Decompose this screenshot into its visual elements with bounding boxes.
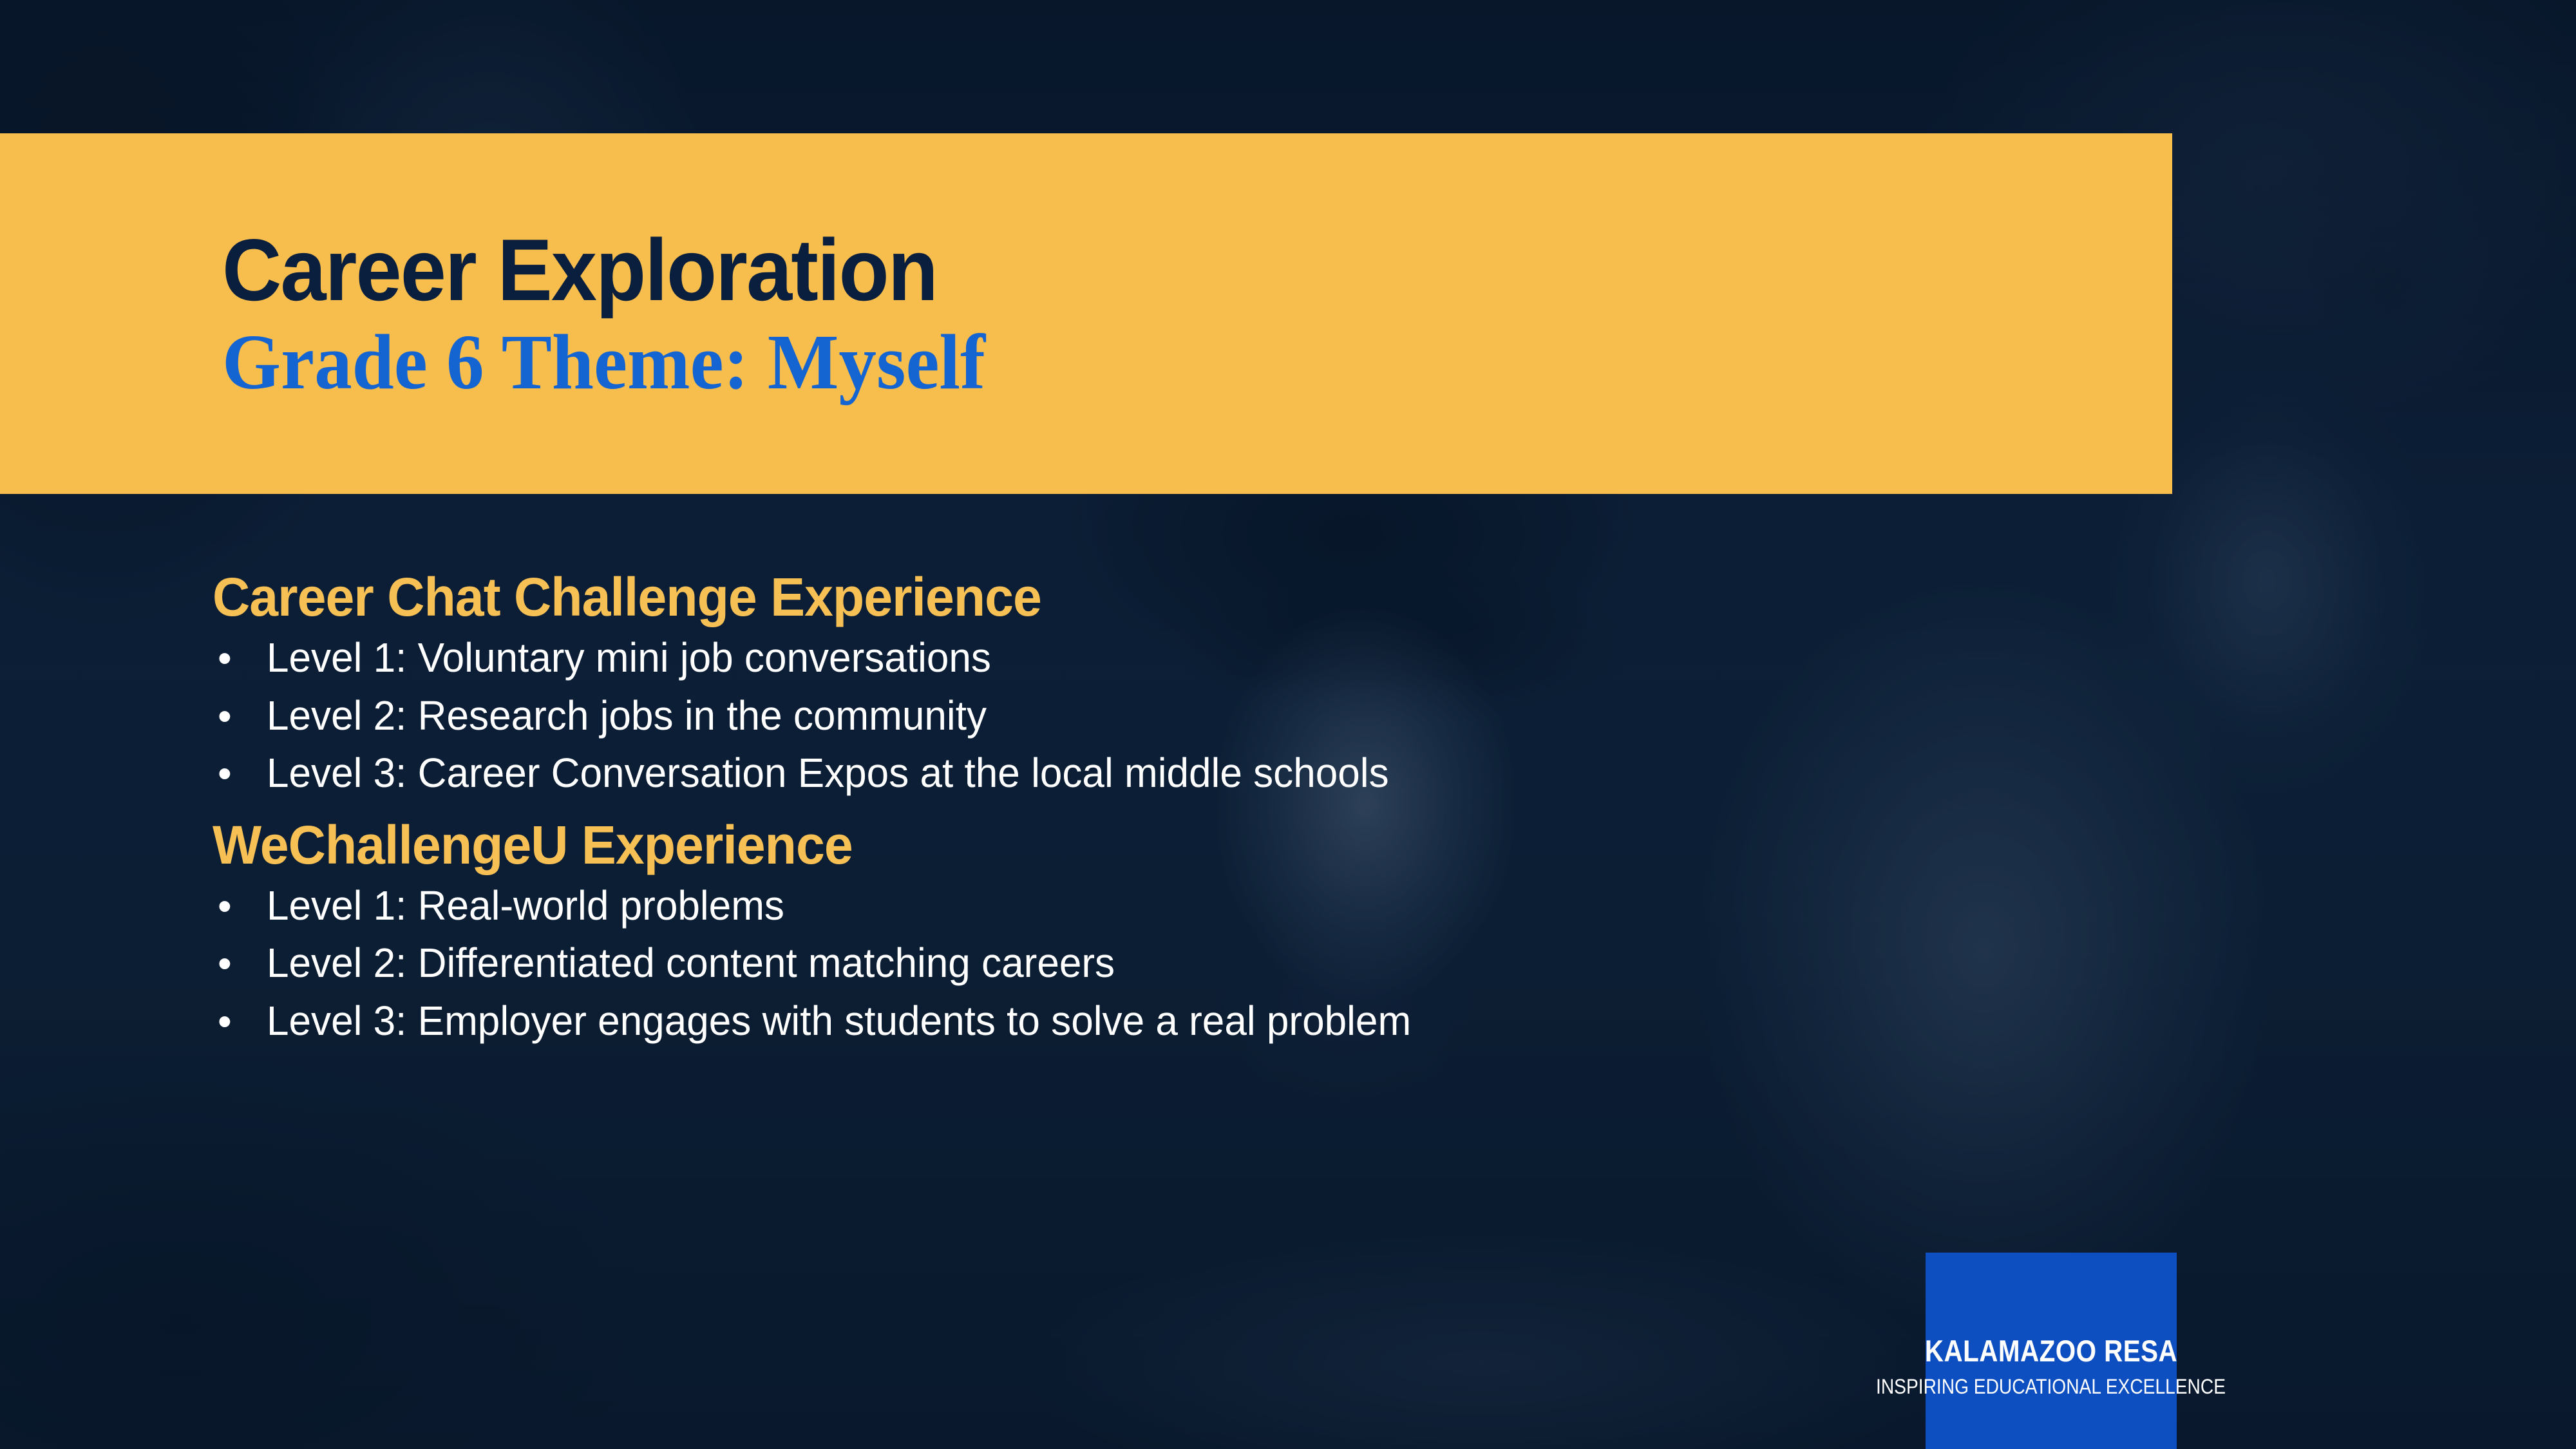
title-banner-content: Career Exploration Grade 6 Theme: Myself	[222, 133, 2172, 494]
list-item: • Level 2: Research jobs in the communit…	[213, 692, 2145, 741]
section-wechallengeu: WeChallengeU Experience • Level 1: Real-…	[213, 815, 2145, 1046]
list-item: • Level 1: Voluntary mini job conversati…	[213, 634, 2145, 683]
presentation-slide: Career Exploration Grade 6 Theme: Myself…	[0, 0, 2576, 1449]
section-heading: WeChallengeU Experience	[213, 815, 2067, 875]
list-item-label: Level 3: Employer engages with students …	[267, 997, 1411, 1046]
list-item-label: Level 3: Career Conversation Expos at th…	[267, 749, 1389, 798]
section-career-chat-challenge: Career Chat Challenge Experience • Level…	[213, 567, 2145, 798]
list-item-label: Level 2: Research jobs in the community	[267, 692, 987, 741]
list-item-label: Level 2: Differentiated content matching…	[267, 939, 1115, 988]
bullet-list: • Level 1: Real-world problems • Level 2…	[213, 882, 2145, 1046]
logo-organization-name: KALAMAZOO RESA	[1925, 1333, 2177, 1368]
list-item: • Level 3: Employer engages with student…	[213, 997, 2145, 1046]
list-item-label: Level 1: Voluntary mini job conversation…	[267, 634, 991, 683]
bullet-dot-icon: •	[213, 639, 267, 679]
bullet-dot-icon: •	[213, 1002, 267, 1042]
bullet-dot-icon: •	[213, 944, 267, 984]
logo-tagline: INSPIRING EDUCATIONAL EXCELLENCE	[1877, 1375, 2226, 1399]
list-item: • Level 2: Differentiated content matchi…	[213, 939, 2145, 988]
title-banner: Career Exploration Grade 6 Theme: Myself	[0, 133, 2172, 494]
bullet-dot-icon: •	[213, 697, 267, 737]
bullet-list: • Level 1: Voluntary mini job conversati…	[213, 634, 2145, 798]
slide-body: Career Chat Challenge Experience • Level…	[213, 567, 2145, 1054]
page-subtitle: Grade 6 Theme: Myself	[222, 323, 2094, 402]
list-item-label: Level 1: Real-world problems	[267, 882, 784, 931]
list-item: • Level 3: Career Conversation Expos at …	[213, 749, 2145, 798]
section-heading: Career Chat Challenge Experience	[213, 567, 2067, 627]
bullet-dot-icon: •	[213, 887, 267, 927]
list-item: • Level 1: Real-world problems	[213, 882, 2145, 931]
page-title: Career Exploration	[222, 225, 2055, 315]
kalamazoo-resa-logo: KALAMAZOO RESA INSPIRING EDUCATIONAL EXC…	[1926, 1253, 2177, 1449]
bullet-dot-icon: •	[213, 754, 267, 794]
